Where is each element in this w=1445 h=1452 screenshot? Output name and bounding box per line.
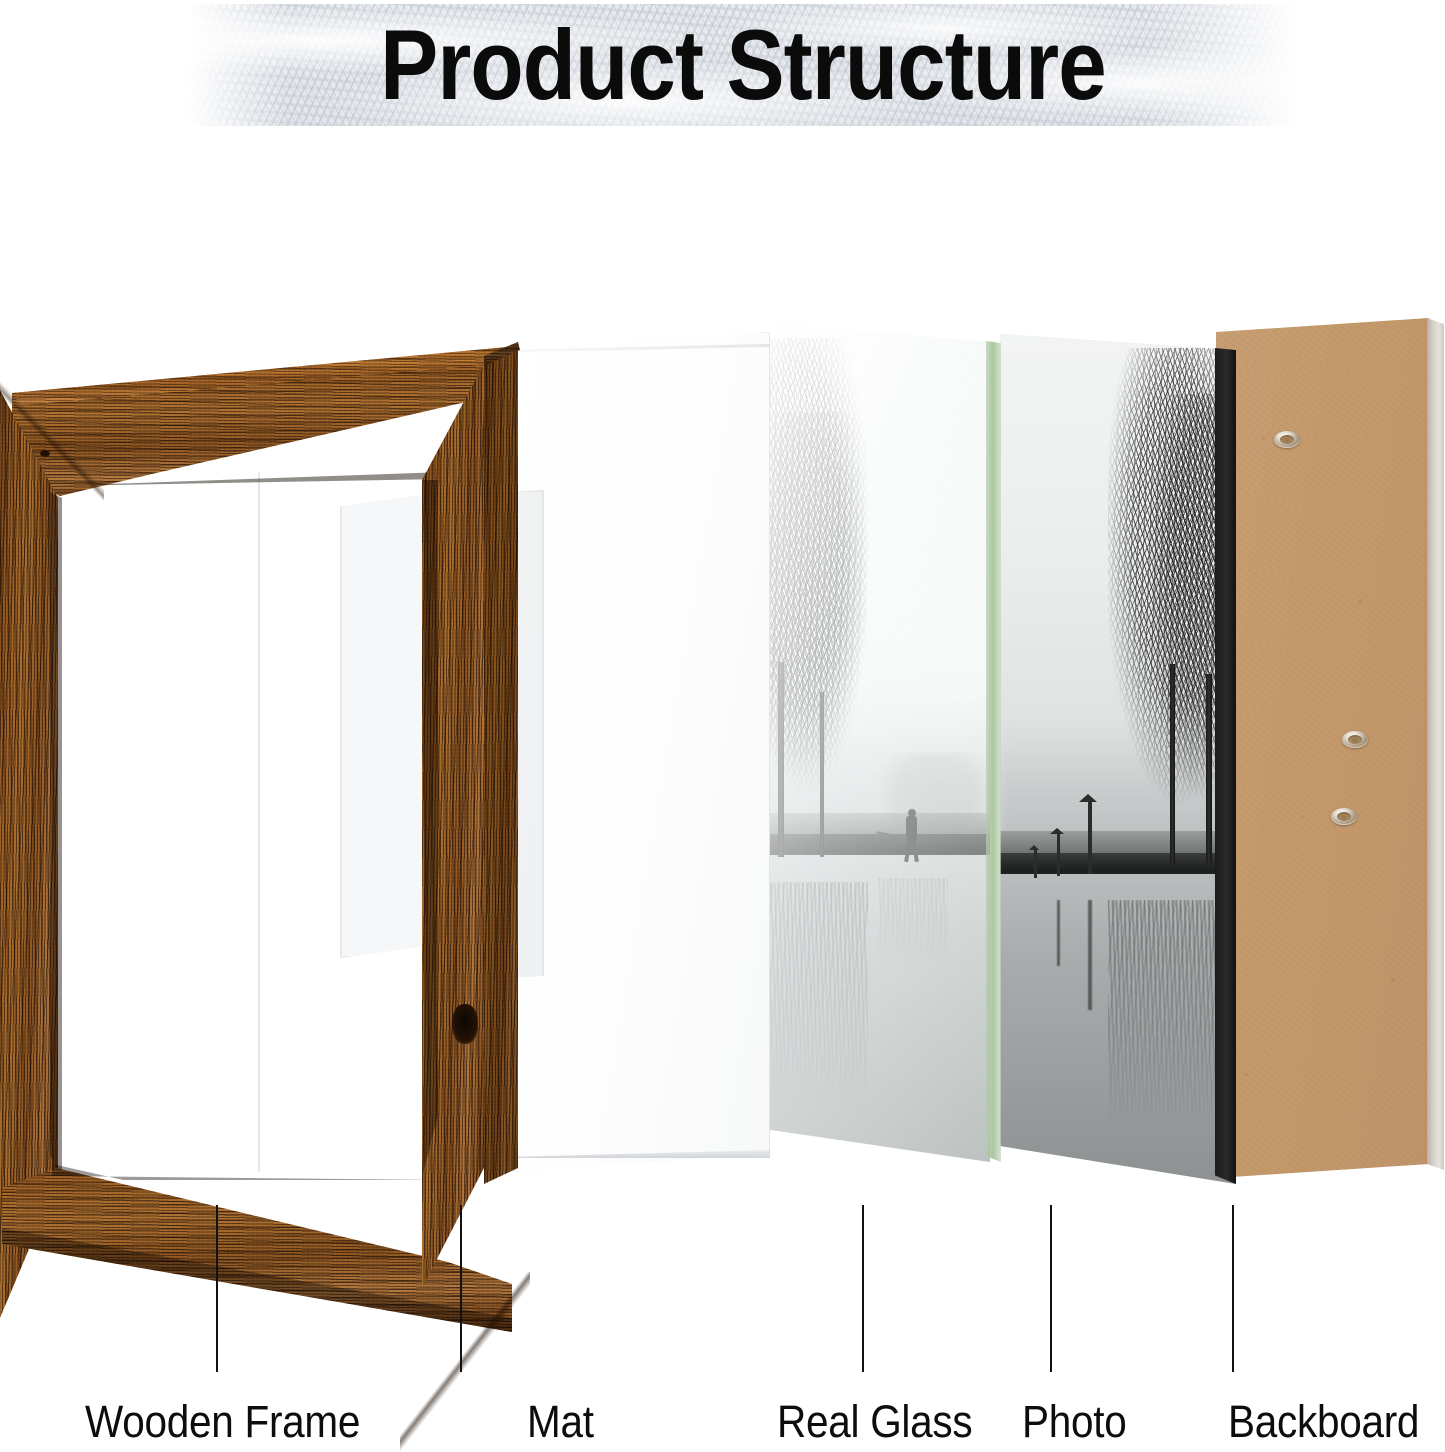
product-structure-infographic: Product Structure [0,0,1445,1452]
exploded-view-diagram [0,0,1445,1210]
label-backboard: Backboard [1228,1398,1419,1446]
frame-left-inner-bevel [50,492,62,1182]
backboard-face [1216,318,1429,1178]
glass-green-edge [986,322,1001,1162]
scene-tree-trunk [1206,674,1212,864]
photo-print [1000,334,1236,1184]
layer-mat [508,332,770,1172]
leader-line-backboard [1232,1205,1234,1372]
frame-miter-seam [400,1272,530,1452]
grommet-icon [1342,731,1368,748]
glass-reflection-sheen [758,322,990,1162]
backboard-side-edge [1427,318,1444,1178]
scene-lamp-reflection [1088,900,1092,1010]
photo-scene [1000,334,1236,1184]
layer-real-glass [758,322,1004,1162]
scene-lamp-reflection [1057,900,1060,966]
scene-lamp-post [1034,850,1037,878]
layer-wooden-frame [0,322,540,1192]
scene-lamp-post [1057,834,1060,876]
frame-bottom-inner-bevel [52,1164,444,1180]
frame-wood-knot [452,1004,478,1044]
scene-tree-trunk [1170,664,1175,864]
scene-lamp-hood [1050,828,1064,834]
frame-wood-knot [40,450,50,457]
leader-line-mat [460,1205,462,1372]
scene-lamp-hood [1079,794,1097,802]
photo-edge [1215,334,1236,1184]
label-wooden-frame: Wooden Frame [85,1398,360,1446]
leader-line-real-glass [862,1205,864,1372]
mat-board [508,332,770,1172]
scene-lamp-hood [1029,845,1039,850]
leader-line-wooden-frame [216,1205,218,1372]
label-photo: Photo [1022,1398,1126,1446]
frame-miter-seam [0,362,104,512]
layer-photo [1000,334,1236,1184]
grommet-hole [1348,735,1362,744]
grommet-hole [1280,435,1294,444]
grommet-icon [1274,431,1300,448]
grommet-hole [1337,812,1351,821]
label-real-glass: Real Glass [777,1398,972,1446]
frame-right-inner-bevel [424,480,438,1170]
frame-opening-seam [258,472,260,1172]
leader-line-photo [1050,1205,1052,1372]
layer-backboard [1216,318,1445,1178]
label-mat: Mat [527,1398,594,1446]
grommet-icon [1331,808,1357,825]
scene-lamp-post [1088,802,1092,874]
